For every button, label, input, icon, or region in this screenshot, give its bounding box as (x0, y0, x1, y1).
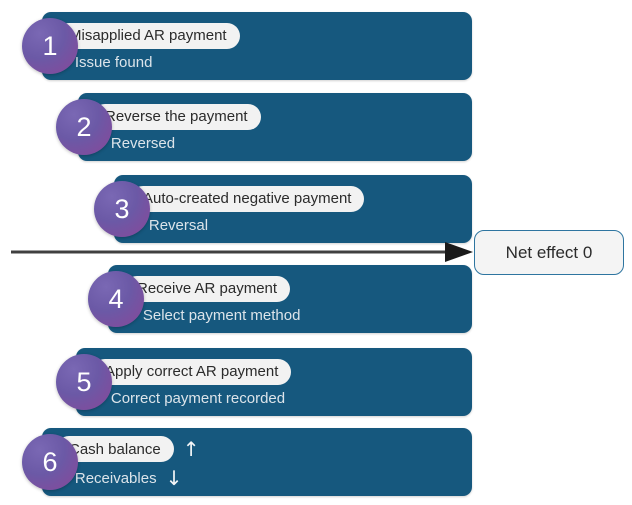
step-title-row: Apply correct AR payment (92, 359, 291, 385)
step-row: 5Apply correct AR payment•Correct paymen… (0, 348, 632, 416)
step-bullet-row: •Reversed (92, 136, 261, 151)
step-title-row: Reverse the payment (92, 104, 261, 130)
step-bullet-row: •Correct payment recorded (92, 391, 291, 406)
step-bullet-label: Select payment method (143, 308, 301, 323)
step-number-badge: 6 (22, 434, 78, 490)
step-number-label: 4 (108, 286, 123, 313)
step-row: 4Receive AR payment•Select payment metho… (0, 265, 632, 333)
step-number-label: 1 (42, 33, 57, 60)
step-title-row: Misapplied AR payment (56, 23, 240, 49)
step-number-badge: 1 (22, 18, 78, 74)
step-title-pill: Apply correct AR payment (92, 359, 291, 385)
step-bullet-label: Receivables (75, 471, 157, 486)
net-effect-label: Net effect 0 (506, 243, 593, 263)
step-title-row: Auto-created negative payment (130, 186, 364, 212)
step-title-pill: Auto-created negative payment (130, 186, 364, 212)
net-effect-box: Net effect 0 (474, 230, 624, 275)
step-number-label: 3 (114, 196, 129, 223)
step-number-label: 5 (76, 369, 91, 396)
step-content: Apply correct AR payment•Correct payment… (92, 348, 291, 416)
step-number-badge: 5 (56, 354, 112, 410)
step-number-badge: 4 (88, 271, 144, 327)
trend-down-icon: ↓ (166, 468, 183, 488)
step-row: 6Cash balance↑•Receivables↓ (0, 428, 632, 496)
step-number-badge: 2 (56, 99, 112, 155)
step-title-pill: Misapplied AR payment (56, 23, 240, 49)
net-effect-arrow-icon (11, 240, 473, 264)
step-title-pill: Reverse the payment (92, 104, 261, 130)
step-row: 2Reverse the payment•Reversed (0, 93, 632, 161)
step-number-label: 2 (76, 114, 91, 141)
step-title-row: Receive AR payment (124, 276, 300, 302)
step-bullet-label: Issue found (75, 55, 153, 70)
step-bullet-label: Correct payment recorded (111, 391, 285, 406)
step-row: 1Misapplied AR payment•Issue found (0, 12, 632, 80)
step-title-pill: Receive AR payment (124, 276, 290, 302)
step-bullet-row: •Receivables↓ (56, 468, 200, 488)
step-bullet-row: •Select payment method (124, 308, 300, 323)
step-bullet-row: •Issue found (56, 55, 240, 70)
step-content: Auto-created negative payment•Reversal (130, 175, 364, 243)
trend-up-icon: ↑ (183, 439, 200, 459)
process-flow-diagram: 1Misapplied AR payment•Issue found2Rever… (0, 0, 632, 505)
step-content: Reverse the payment•Reversed (92, 93, 261, 161)
step-content: Receive AR payment•Select payment method (124, 265, 300, 333)
step-content: Misapplied AR payment•Issue found (56, 12, 240, 80)
step-bullet-label: Reversal (149, 218, 208, 233)
step-number-label: 6 (42, 449, 57, 476)
step-bullet-row: •Reversal (130, 218, 364, 233)
step-bullet-label: Reversed (111, 136, 175, 151)
step-number-badge: 3 (94, 181, 150, 237)
